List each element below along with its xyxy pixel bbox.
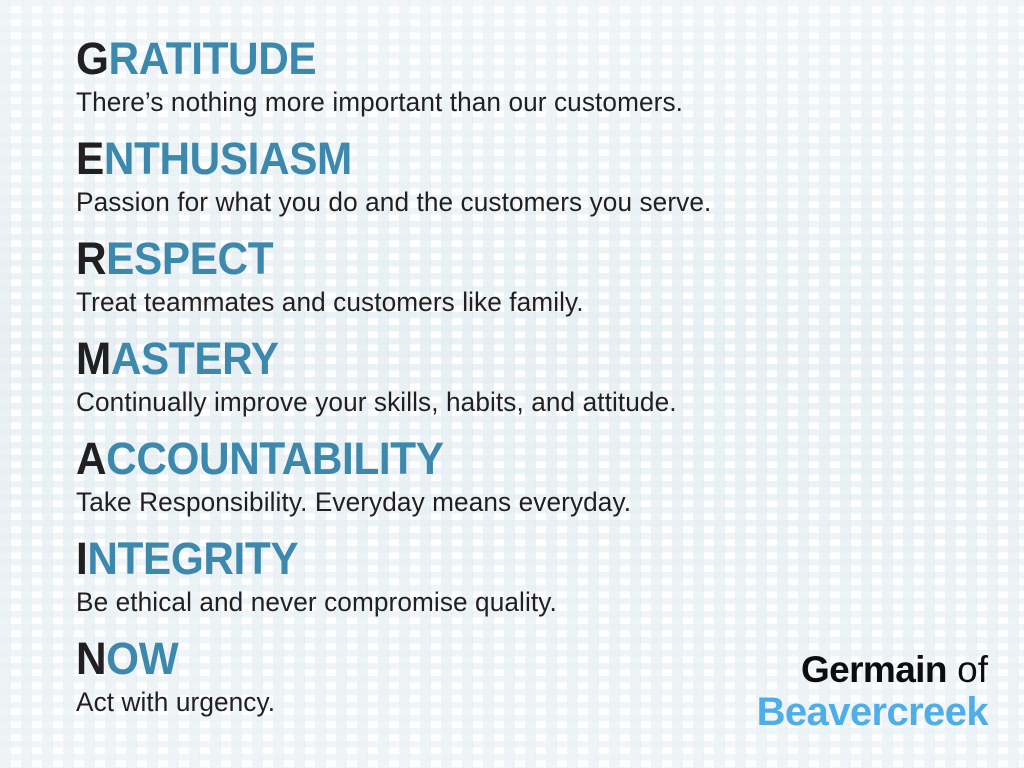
value-row: MASTERY Continually improve your skills,… [76,334,1024,420]
value-initial: G [76,33,109,84]
value-description: Be ethical and never compromise quality. [76,585,996,619]
values-list: GRATITUDE There’s nothing more important… [0,0,1024,720]
value-heading: GRATITUDE [76,34,967,84]
value-heading: ENTHUSIASM [76,134,967,184]
value-row: ENTHUSIASM Passion for what you do and t… [76,134,1024,220]
value-initial: M [76,333,111,384]
value-row: RESPECT Treat teammates and customers li… [76,234,1024,320]
value-word-rest: RATITUDE [109,33,317,84]
value-heading: MASTERY [76,334,967,384]
value-row: INTEGRITY Be ethical and never compromis… [76,534,1024,620]
value-initial: N [76,633,106,684]
value-initial: R [76,233,106,284]
value-word-rest: ESPECT [106,233,273,284]
value-initial: E [76,133,104,184]
value-word-rest: OW [106,633,178,684]
value-word-rest: NTEGRITY [87,533,298,584]
dealership-logo: Germain of Beavercreek [757,650,988,734]
value-heading: ACCOUNTABILITY [76,434,967,484]
logo-connector: of [947,649,988,690]
value-word-rest: CCOUNTABILITY [106,433,443,484]
value-initial: I [76,533,87,584]
values-poster: GRATITUDE There’s nothing more important… [0,0,1024,768]
value-description: Continually improve your skills, habits,… [76,385,996,419]
value-row: ACCOUNTABILITY Take Responsibility. Ever… [76,434,1024,520]
value-description: Treat teammates and customers like famil… [76,285,996,319]
value-description: Take Responsibility. Everyday means ever… [76,485,996,519]
value-row: GRATITUDE There’s nothing more important… [76,34,1024,120]
value-word-rest: ASTERY [111,333,279,384]
logo-brand-name: Germain [801,649,947,690]
value-word-rest: NTHUSIASM [104,133,352,184]
value-heading: INTEGRITY [76,534,967,584]
value-heading: RESPECT [76,234,967,284]
value-initial: A [76,433,106,484]
value-description: There’s nothing more important than our … [76,85,996,119]
logo-line-primary: Germain of [757,650,988,690]
value-description: Passion for what you do and the customer… [76,185,996,219]
logo-location: Beavercreek [757,690,988,734]
